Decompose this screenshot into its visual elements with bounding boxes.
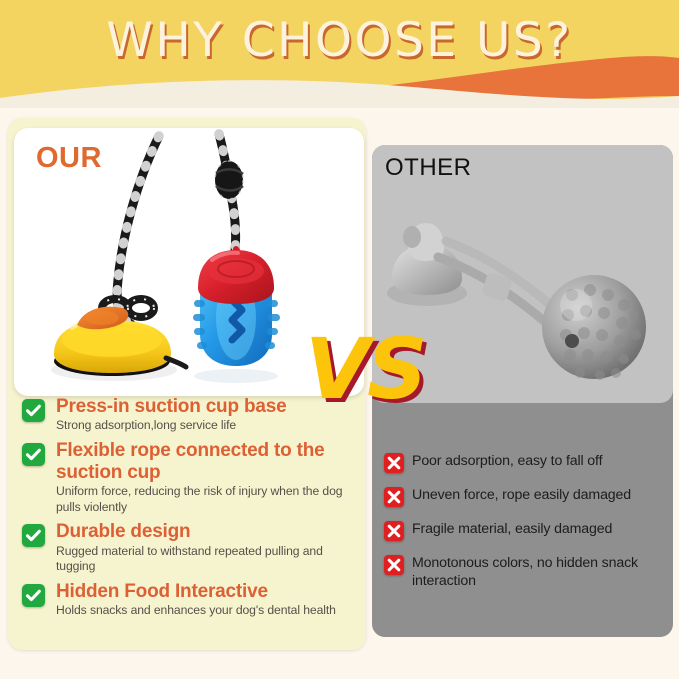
cross-badge-icon: [384, 487, 404, 507]
con-item: Fragile material, easily damaged: [384, 520, 674, 538]
cross-badge-icon: [384, 555, 404, 575]
cross-badge-icon: [384, 521, 404, 541]
infographic-root: WHY CHOOSE US?: [0, 0, 679, 679]
page-title: WHY CHOOSE US?: [0, 14, 679, 68]
check-badge-icon: [22, 524, 45, 547]
check-badge-icon: [22, 399, 45, 422]
con-item: Poor adsorption, easy to fall off: [384, 452, 674, 470]
con-text: Monotonous colors, no hidden snack inter…: [412, 554, 674, 590]
vs-badge: VS: [305, 327, 425, 411]
pro-item: Flexible rope connected to the suction c…: [22, 440, 362, 515]
pro-title: Hidden Food Interactive: [56, 581, 362, 602]
cross-badge-icon: [384, 453, 404, 473]
other-label: OTHER: [385, 154, 472, 182]
con-item: Monotonous colors, no hidden snack inter…: [384, 554, 674, 590]
con-text: Uneven force, rope easily damaged: [412, 486, 674, 504]
pro-title: Flexible rope connected to the suction c…: [56, 440, 362, 483]
pros-list: Press-in suction cup base Strong adsorpt…: [22, 396, 362, 625]
pro-title: Durable design: [56, 521, 362, 542]
con-text: Fragile material, easily damaged: [412, 520, 674, 538]
con-item: Uneven force, rope easily damaged: [384, 486, 674, 504]
pro-subtitle: Holds snacks and enhances your dog's den…: [56, 603, 362, 619]
pro-subtitle: Strong adsorption,long service life: [56, 418, 362, 434]
pro-subtitle: Uniform force, reducing the risk of inju…: [56, 484, 362, 515]
pro-item: Hidden Food Interactive Holds snacks and…: [22, 581, 362, 619]
pro-subtitle: Rugged material to withstand repeated pu…: [56, 544, 362, 575]
cons-list: Poor adsorption, easy to fall off Uneven…: [384, 452, 674, 606]
con-text: Poor adsorption, easy to fall off: [412, 452, 674, 470]
pro-item: Durable design Rugged material to withst…: [22, 521, 362, 575]
header-banner: WHY CHOOSE US?: [0, 0, 679, 108]
check-badge-icon: [22, 584, 45, 607]
our-label: OUR: [36, 142, 102, 175]
check-badge-icon: [22, 443, 45, 466]
